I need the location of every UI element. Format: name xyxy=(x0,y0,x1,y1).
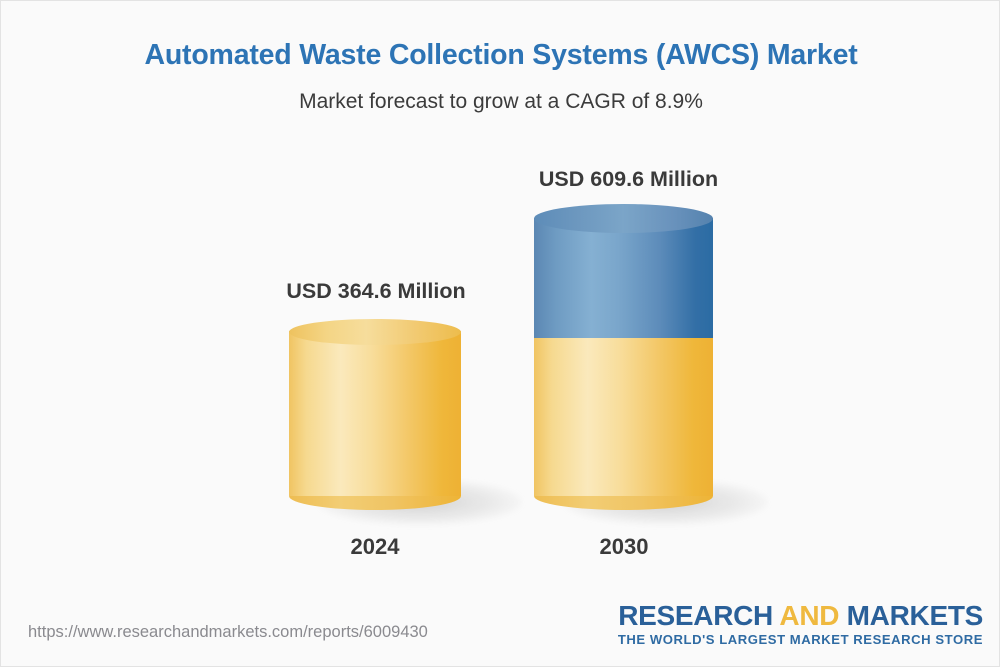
cylinder-body xyxy=(534,218,713,338)
plot-area: USD 364.6 Million 2024 USD 609.6 Million xyxy=(1,1,1000,601)
chart-canvas: Automated Waste Collection Systems (AWCS… xyxy=(0,0,1000,667)
value-label-2030: USD 609.6 Million xyxy=(506,167,751,192)
brand-name: RESEARCH AND MARKETS xyxy=(618,601,983,630)
bar-segment-2030-base[interactable] xyxy=(534,338,713,531)
brand-tagline: THE WORLD'S LARGEST MARKET RESEARCH STOR… xyxy=(618,632,983,647)
cylinder-top-ellipse xyxy=(534,204,713,233)
category-label-2030: 2030 xyxy=(534,534,714,560)
brand-name-part1: RESEARCH xyxy=(618,600,779,631)
bar-group-2030[interactable]: USD 609.6 Million 2030 xyxy=(1,1,1000,601)
cylinder-body xyxy=(534,338,713,496)
brand-logo[interactable]: RESEARCH AND MARKETS THE WORLD'S LARGEST… xyxy=(618,601,983,647)
source-url[interactable]: https://www.researchandmarkets.com/repor… xyxy=(28,623,428,642)
brand-name-part2: MARKETS xyxy=(839,600,983,631)
bar-segment-2030-growth[interactable] xyxy=(534,204,713,344)
brand-name-and: AND xyxy=(779,600,839,631)
